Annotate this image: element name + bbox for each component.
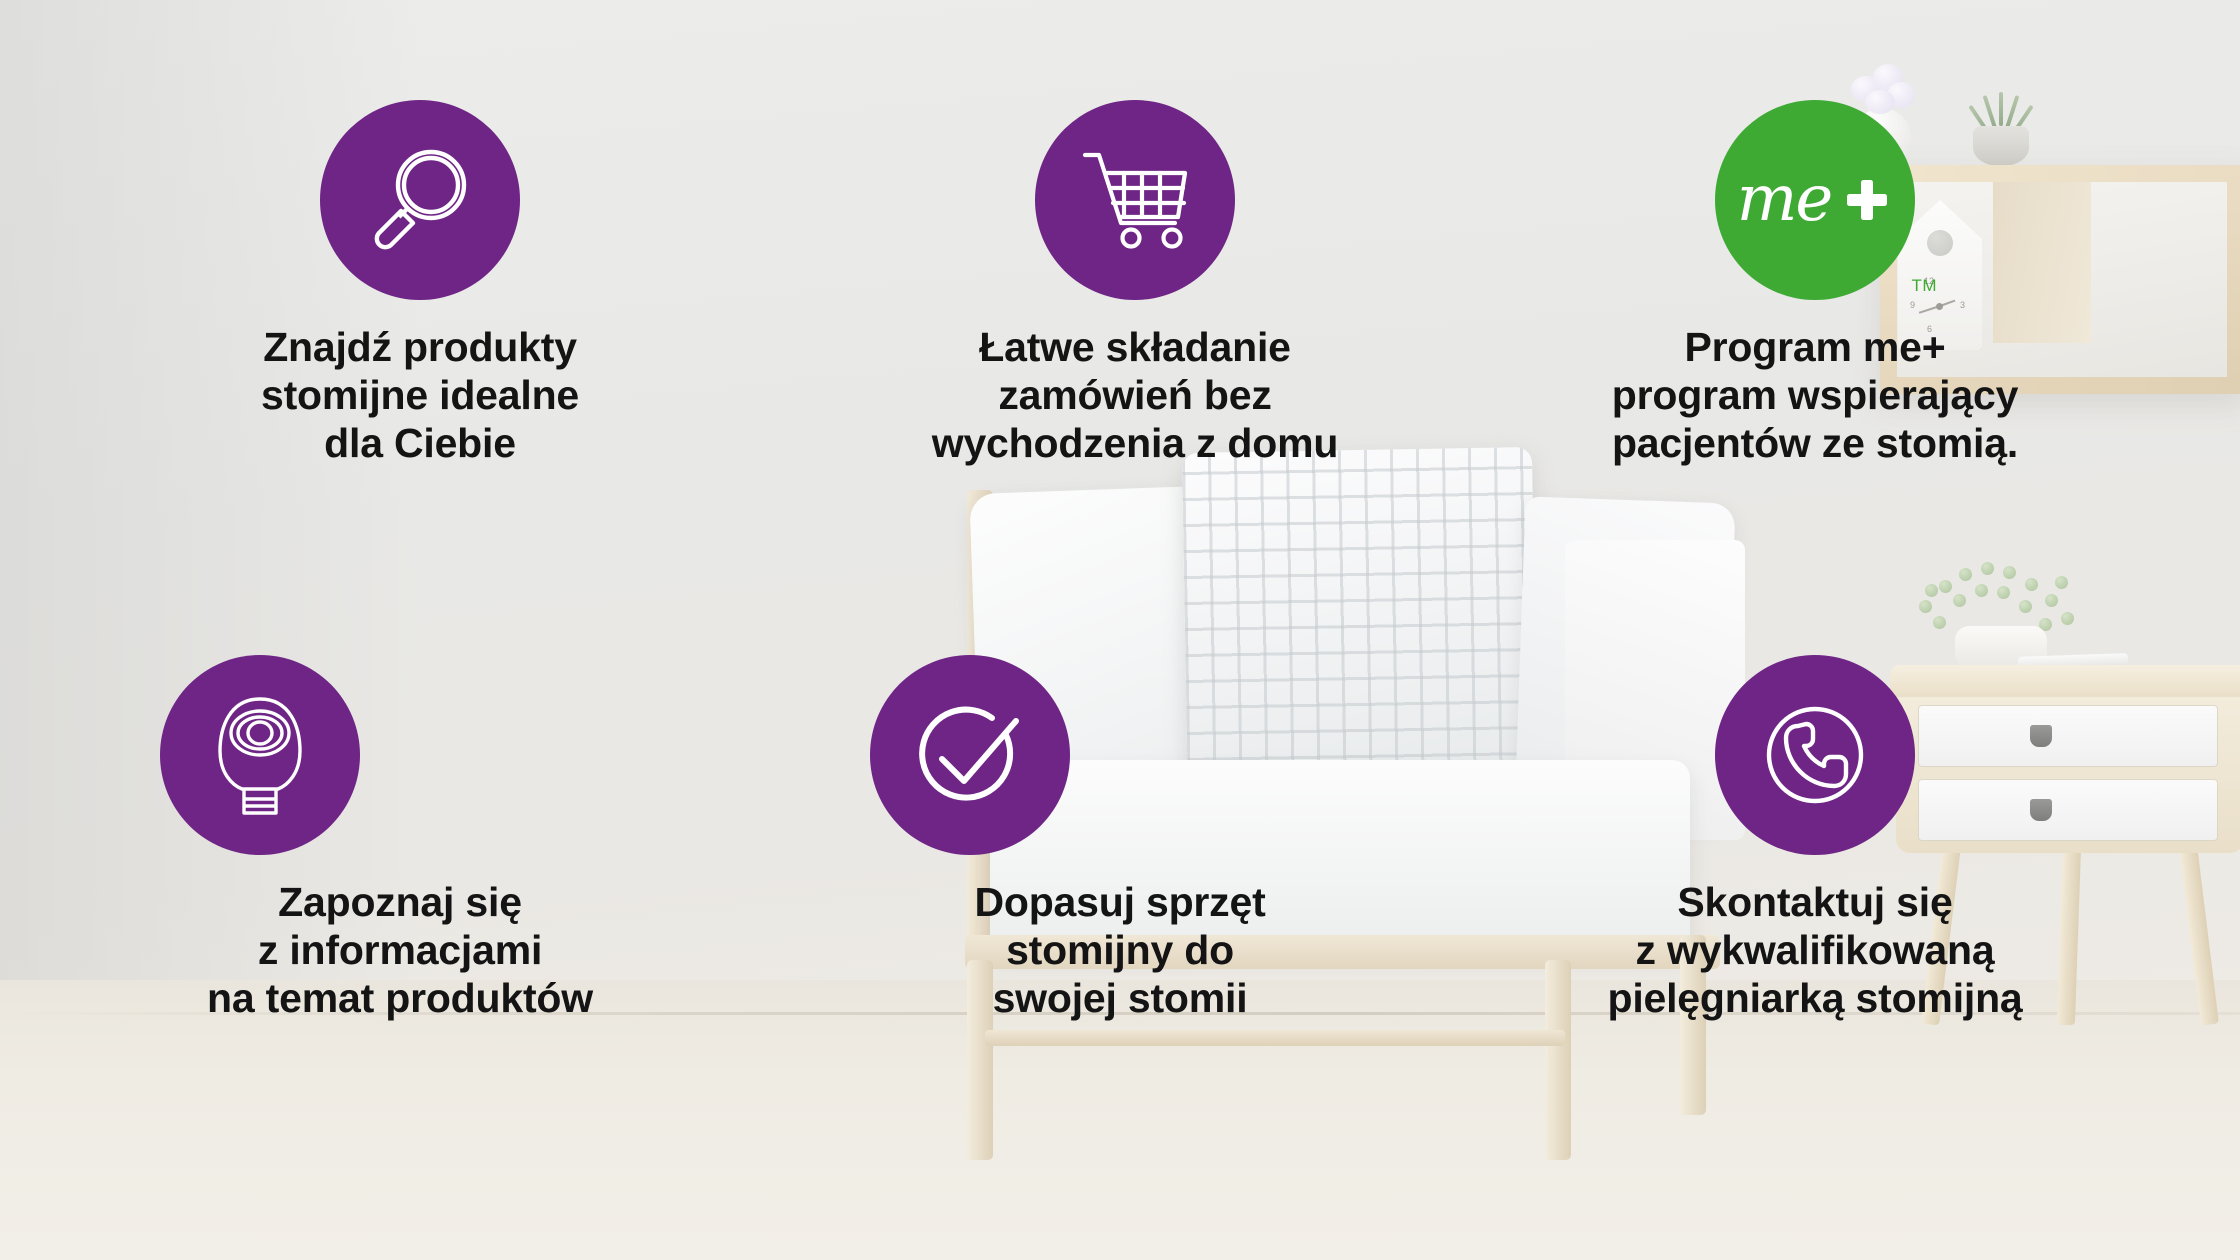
trademark-symbol: TM [1911, 276, 1937, 296]
caption-line: Łatwe składanie [855, 324, 1415, 372]
caption-line: na temat produktów [120, 975, 680, 1023]
features-grid: Znajdź produkty stomijne idealne dla Cie… [0, 0, 2240, 1260]
ostomy-pouch-icon [160, 655, 360, 855]
feature-tile-me-plus-program[interactable]: me TM Program me+ program wspierający pa… [1535, 100, 2095, 468]
me-plus-logo: me TM [1715, 100, 1915, 300]
caption-line: z informacjami [120, 927, 680, 975]
feature-caption: Program me+ program wspierający pacjentó… [1535, 324, 2095, 468]
feature-tile-find-products[interactable]: Znajdź produkty stomijne idealne dla Cie… [140, 100, 700, 468]
caption-line: pielęgniarką stomijną [1535, 975, 2095, 1023]
caption-line: pacjentów ze stomią. [1535, 420, 2095, 468]
caption-line: Znajdź produkty [140, 324, 700, 372]
caption-line: Program me+ [1535, 324, 2095, 372]
me-plus-wordmark: me [1737, 174, 1832, 225]
feature-tile-product-information[interactable]: Zapoznaj się z informacjami na temat pro… [120, 655, 680, 1023]
feature-caption: Zapoznaj się z informacjami na temat pro… [120, 879, 680, 1023]
feature-caption: Łatwe składanie zamówień bez wychodzenia… [855, 324, 1415, 468]
check-circle-icon [870, 655, 1070, 855]
caption-line: stomijne idealne [140, 372, 700, 420]
caption-line: Zapoznaj się [120, 879, 680, 927]
feature-tile-easy-ordering[interactable]: Łatwe składanie zamówień bez wychodzenia… [855, 100, 1415, 468]
feature-tile-match-equipment[interactable]: Dopasuj sprzęt stomijny do swojej stomii [840, 655, 1400, 1023]
caption-line: swojej stomii [840, 975, 1400, 1023]
shopping-cart-icon [1035, 100, 1235, 300]
caption-line: zamówień bez [855, 372, 1415, 420]
caption-line: Dopasuj sprzęt [840, 879, 1400, 927]
caption-line: program wspierający [1535, 372, 2095, 420]
plus-icon [1841, 174, 1893, 226]
feature-caption: Dopasuj sprzęt stomijny do swojej stomii [840, 879, 1400, 1023]
feature-grid-banner: 12 3 6 9 [0, 0, 2240, 1260]
caption-line: Skontaktuj się [1535, 879, 2095, 927]
phone-circle-icon [1715, 655, 1915, 855]
caption-line: wychodzenia z domu [855, 420, 1415, 468]
caption-line: dla Ciebie [140, 420, 700, 468]
caption-line: stomijny do [840, 927, 1400, 975]
feature-caption: Znajdź produkty stomijne idealne dla Cie… [140, 324, 700, 468]
caption-line: z wykwalifikowaną [1535, 927, 2095, 975]
magnifier-icon [320, 100, 520, 300]
feature-tile-contact-nurse[interactable]: Skontaktuj się z wykwalifikowaną pielęgn… [1535, 655, 2095, 1023]
feature-caption: Skontaktuj się z wykwalifikowaną pielęgn… [1535, 879, 2095, 1023]
